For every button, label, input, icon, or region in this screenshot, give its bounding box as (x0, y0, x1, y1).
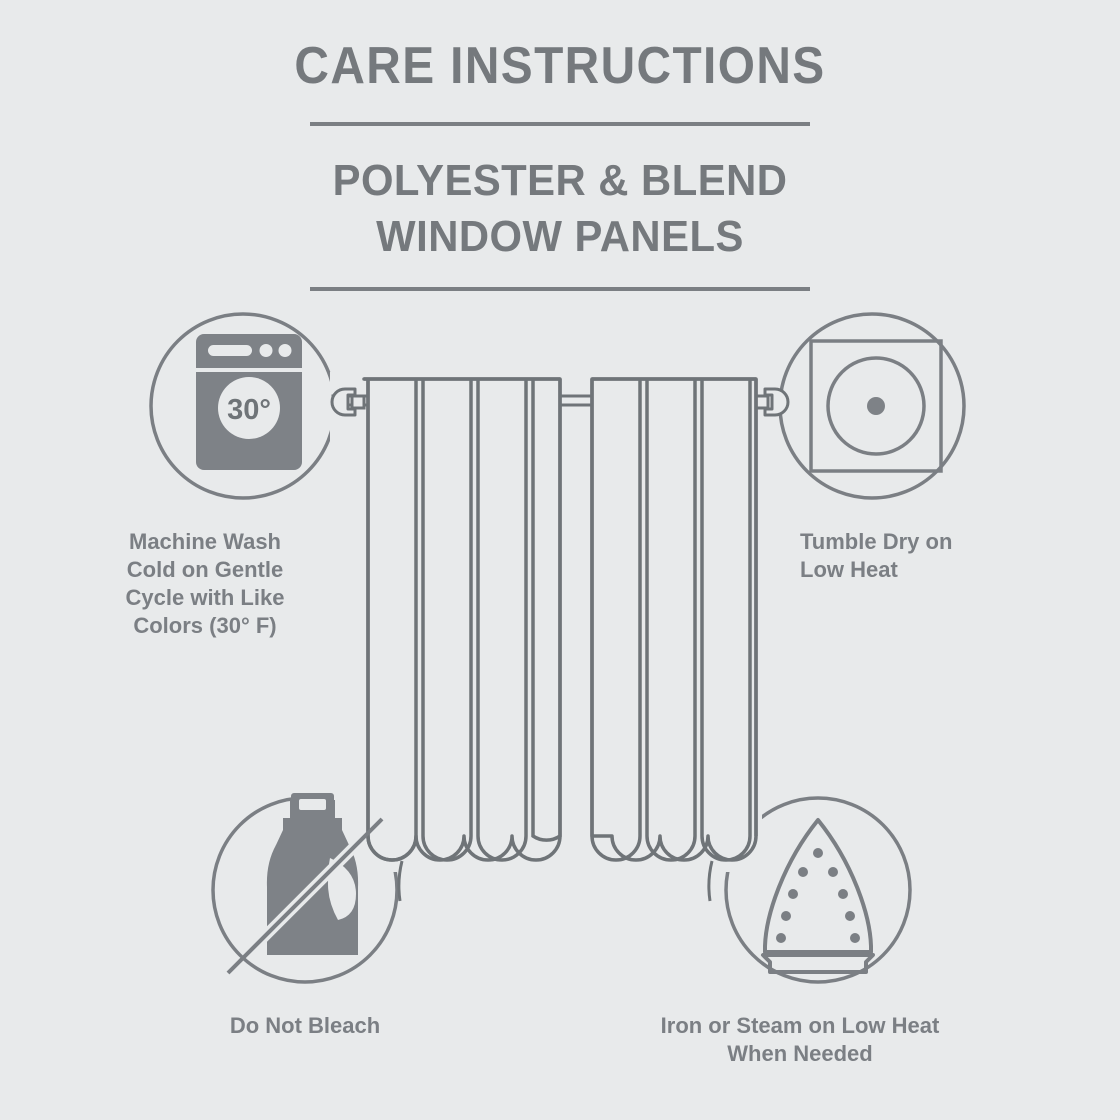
no-bleach-icon (228, 793, 382, 973)
washing-machine-icon: 30° (196, 334, 302, 470)
caption-do-not-bleach: Do Not Bleach (165, 1012, 445, 1040)
curtain-panel-left (364, 379, 560, 860)
curtain-panel-right (592, 379, 756, 860)
caption-machine-wash: Machine Wash Cold on Gentle Cycle with L… (60, 528, 350, 640)
care-instructions-infographic: CARE INSTRUCTIONS POLYESTER & BLEND WIND… (0, 0, 1120, 1120)
finial-left-icon (332, 389, 364, 415)
caption-tumble-dry: Tumble Dry on Low Heat (800, 528, 1100, 584)
iron-icon (763, 820, 873, 972)
tumble-dry-icon (811, 341, 941, 471)
wash-temperature-label: 30° (227, 394, 271, 426)
curtain-illustration (332, 379, 788, 901)
finial-right-icon (756, 389, 788, 415)
caption-iron: Iron or Steam on Low Heat When Needed (600, 1012, 1000, 1068)
